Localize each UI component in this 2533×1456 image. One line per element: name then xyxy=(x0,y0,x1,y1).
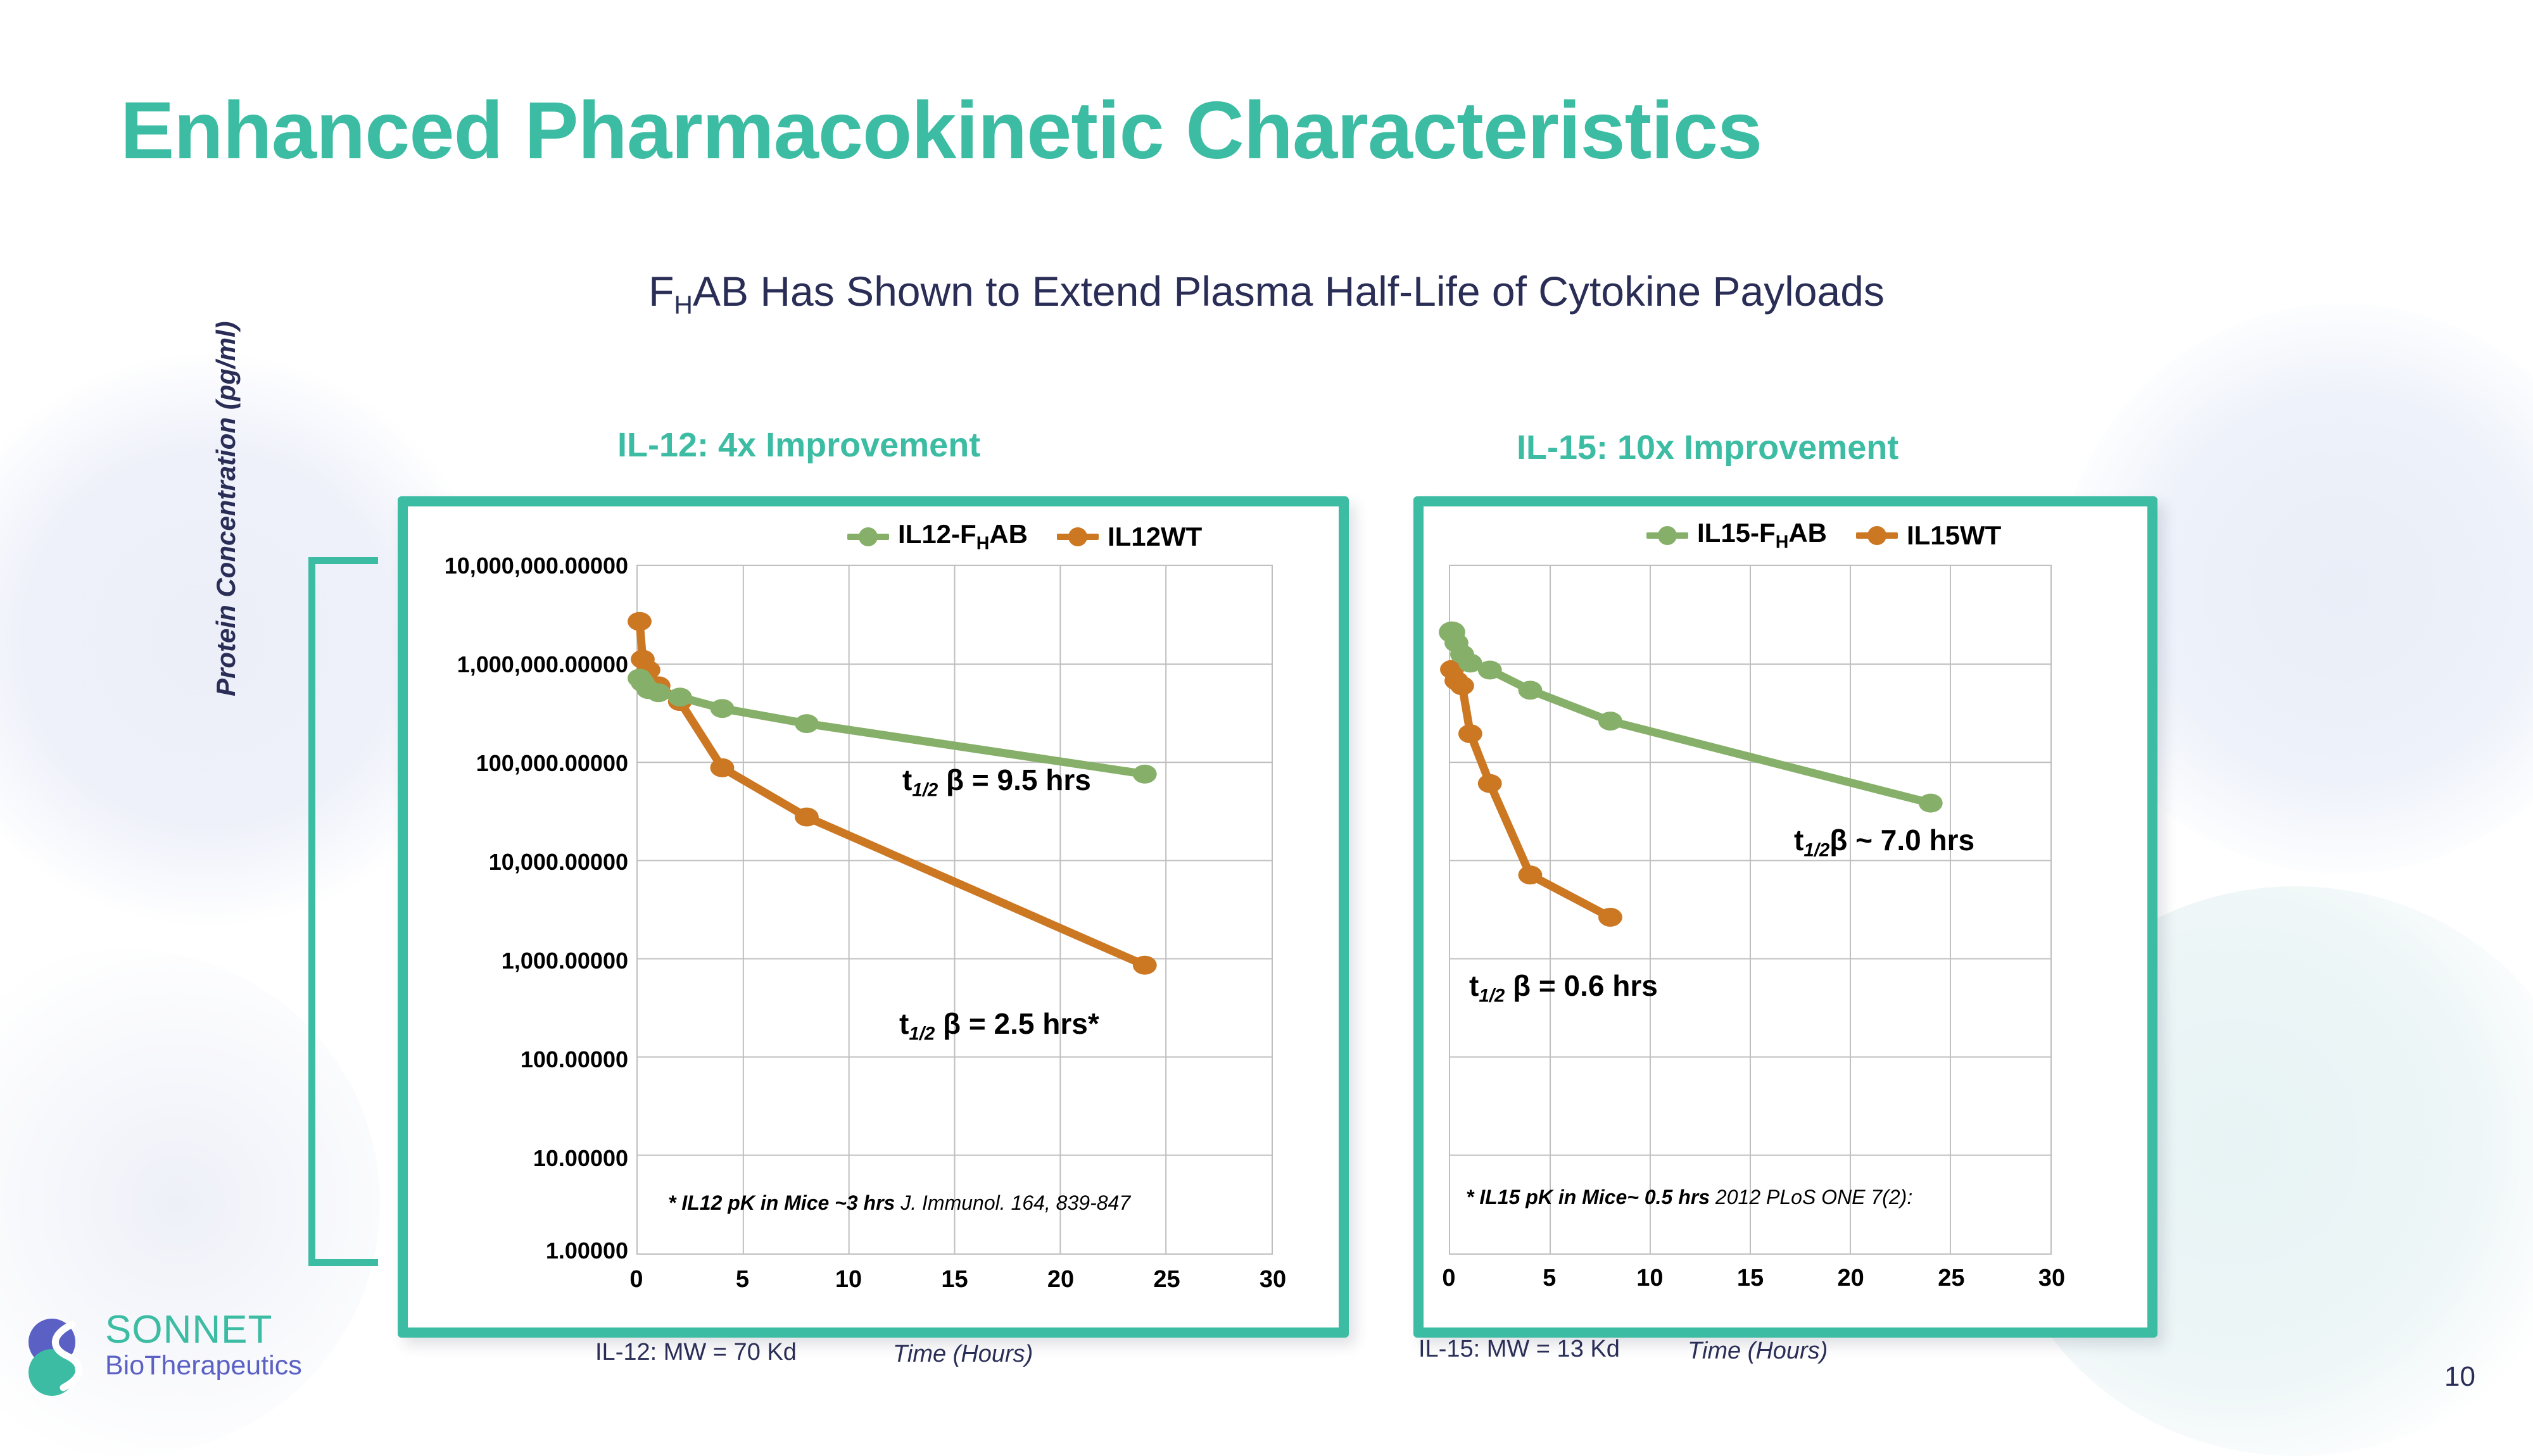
x-tick: 20 xyxy=(1047,1266,1074,1293)
annotation-halflife-il12-fhab: t1/2 β = 9.5 hrs xyxy=(902,763,1091,801)
footnote-bold: * IL15 pK in Mice~ 0.5 hrs xyxy=(1466,1186,1710,1208)
plot-svg-il12 xyxy=(638,566,1272,1253)
annotation-value: β = 9.5 hrs xyxy=(938,763,1091,796)
x-axis-title-il15: Time (Hours) xyxy=(1688,1338,1828,1365)
x-axis-ticks-il12: 0 5 10 15 20 25 30 xyxy=(636,1266,1273,1304)
caption-mw-il15: IL-15: MW = 13 Kd xyxy=(1418,1336,1620,1363)
annotation-halflife-il15-fhab: t1/2β ~ 7.0 hrs xyxy=(1794,823,1974,861)
annotation-t: t xyxy=(902,763,912,796)
legend-text-sub: H xyxy=(1776,532,1789,553)
annotation-subscript: 1/2 xyxy=(1803,839,1829,860)
annotation-t: t xyxy=(899,1007,909,1040)
legend-il12: IL12-FHAB IL12WT xyxy=(847,519,1202,555)
x-tick: 5 xyxy=(1543,1265,1556,1292)
subtitle-prefix: F xyxy=(648,268,674,315)
annotation-value: β ~ 7.0 hrs xyxy=(1829,824,1974,857)
footnote-il12: * IL12 pK in Mice ~3 hrs J. Immunol. 164… xyxy=(668,1191,1130,1215)
x-tick: 10 xyxy=(835,1266,862,1293)
legend-marker-green-icon xyxy=(1646,532,1688,539)
x-tick: 10 xyxy=(1636,1265,1663,1292)
logo-company-tagline: BioTherapeutics xyxy=(105,1352,302,1380)
legend-item-il15-fhab[interactable]: IL15-FHAB xyxy=(1646,518,1827,553)
x-tick: 20 xyxy=(1838,1265,1864,1292)
y-axis-label: Protein Concentration (pg/ml) xyxy=(211,321,241,696)
annotation-t: t xyxy=(1794,824,1803,857)
annotation-t: t xyxy=(1469,969,1479,1002)
chart-heading-il12: IL-12: 4x Improvement xyxy=(617,425,980,465)
legend-text-post: AB xyxy=(1788,518,1827,548)
legend-marker-orange-icon xyxy=(1057,534,1099,540)
y-tick: 10,000.00000 xyxy=(375,849,628,875)
legend-text-sub: H xyxy=(976,534,990,554)
annotation-value: β = 0.6 hrs xyxy=(1505,969,1658,1002)
legend-label-il12-wt: IL12WT xyxy=(1108,522,1202,552)
legend-text-pre: IL15-F xyxy=(1697,518,1776,548)
subtitle-suffix: AB Has Shown to Extend Plasma Half-Life … xyxy=(693,268,1885,315)
y-axis-ticks: 10,000,000.00000 1,000,000.00000 100,000… xyxy=(375,0,628,1424)
x-tick: 30 xyxy=(2038,1265,2065,1292)
x-tick: 0 xyxy=(1442,1265,1455,1292)
legend-marker-orange-icon xyxy=(1856,532,1898,539)
footnote-il15: * IL15 pK in Mice~ 0.5 hrs 2012 PLoS ONE… xyxy=(1466,1186,1912,1209)
caption-mw-il12: IL-12: MW = 70 Kd xyxy=(595,1339,797,1366)
legend-item-il12-wt[interactable]: IL12WT xyxy=(1057,522,1202,552)
plot-area-il12 xyxy=(636,565,1273,1255)
series-line-il15-fhab xyxy=(1452,632,1931,803)
logo-company-name: SONNET xyxy=(105,1310,302,1350)
y-tick: 100,000.00000 xyxy=(375,750,628,777)
y-tick: 1,000,000.00000 xyxy=(375,651,628,678)
y-tick: 1.00000 xyxy=(375,1238,628,1264)
annotation-halflife-il12-wt: t1/2 β = 2.5 hrs* xyxy=(899,1007,1099,1045)
annotation-subscript: 1/2 xyxy=(909,1023,935,1044)
x-tick: 15 xyxy=(1737,1265,1764,1292)
legend-label-il15-wt: IL15WT xyxy=(1907,520,2001,551)
plot-svg-il15 xyxy=(1450,566,2050,1253)
y-tick: 1,000.00000 xyxy=(375,948,628,974)
x-axis-title-il12: Time (Hours) xyxy=(893,1341,1033,1368)
legend-text-post: AB xyxy=(989,519,1028,549)
y-tick: 100.00000 xyxy=(375,1046,628,1073)
legend-il15: IL15-FHAB IL15WT xyxy=(1646,518,2001,553)
y-axis-bracket xyxy=(308,557,378,1266)
x-tick: 25 xyxy=(1153,1266,1180,1293)
legend-text-pre: IL12-F xyxy=(898,519,976,549)
annotation-subscript: 1/2 xyxy=(912,779,938,800)
company-logo: SONNET BioTherapeutics xyxy=(25,1310,310,1405)
page-number: 10 xyxy=(2444,1361,2475,1393)
gridlines-vertical xyxy=(743,566,1166,1253)
x-tick: 5 xyxy=(736,1266,749,1293)
y-tick: 10,000,000.00000 xyxy=(375,553,628,579)
logo-wordmark: SONNET BioTherapeutics xyxy=(105,1310,302,1380)
footnote-citation: J. Immunol. 164, 839-847 xyxy=(895,1191,1130,1214)
x-axis-ticks-il15: 0 5 10 15 20 25 30 xyxy=(1449,1265,2052,1303)
legend-label-il15-fhab: IL15-FHAB xyxy=(1697,518,1827,553)
annotation-halflife-il15-wt: t1/2 β = 0.6 hrs xyxy=(1469,969,1658,1007)
legend-marker-green-icon xyxy=(847,534,889,540)
legend-item-il15-wt[interactable]: IL15WT xyxy=(1856,520,2001,551)
x-tick: 15 xyxy=(941,1266,968,1293)
subtitle-subscript: H xyxy=(674,290,693,319)
x-tick: 0 xyxy=(629,1266,643,1293)
footnote-citation: 2012 PLoS ONE 7(2): xyxy=(1710,1186,1912,1208)
chart-heading-il15: IL-15: 10x Improvement xyxy=(1517,428,1898,467)
x-tick: 30 xyxy=(1260,1266,1286,1293)
sonnet-logo-mark-icon xyxy=(25,1315,99,1396)
legend-item-il12-fhab[interactable]: IL12-FHAB xyxy=(847,519,1028,555)
annotation-subscript: 1/2 xyxy=(1479,985,1505,1006)
annotation-value: β = 2.5 hrs* xyxy=(935,1007,1099,1040)
legend-label-il12-fhab: IL12-FHAB xyxy=(898,519,1028,555)
plot-area-il15 xyxy=(1449,565,2052,1255)
footnote-bold: * IL12 pK in Mice ~3 hrs xyxy=(668,1191,895,1214)
y-tick: 10.00000 xyxy=(375,1145,628,1172)
x-tick: 25 xyxy=(1938,1265,1964,1292)
